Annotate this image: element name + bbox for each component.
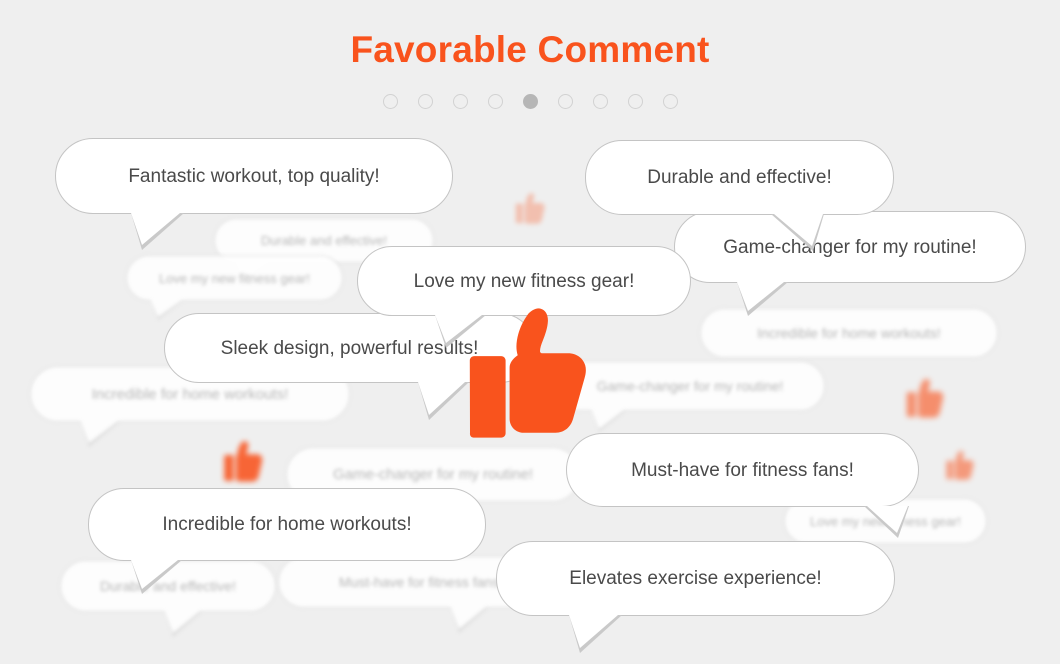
comment-bubble[interactable]: Fantastic workout, top quality!	[55, 138, 453, 214]
bubble-tail	[81, 421, 121, 447]
bubble-tail	[592, 410, 627, 432]
decorative-thumbs-up	[509, 190, 545, 224]
pagination-dot-6[interactable]	[558, 94, 573, 109]
pagination-dot-4[interactable]	[488, 94, 503, 109]
background-comment-bubble: Game-changer for my routine!	[555, 361, 825, 411]
thumbs-up-icon	[509, 190, 545, 224]
bubble-tail-fill	[418, 382, 465, 415]
bubble-tail	[131, 213, 184, 250]
bubble-tail	[569, 615, 622, 653]
comment-text: Love my new fitness gear!	[159, 272, 310, 285]
comment-text: Fantastic workout, top quality!	[128, 167, 379, 186]
pagination-dots[interactable]	[0, 94, 1060, 109]
comment-text: Elevates exercise experience!	[569, 569, 821, 588]
comment-bubble[interactable]: Elevates exercise experience!	[496, 541, 895, 616]
pagination-dot-3[interactable]	[453, 94, 468, 109]
thumbs-up-icon	[940, 448, 974, 480]
pagination-dot-1[interactable]	[383, 94, 398, 109]
pagination-dot-9[interactable]	[663, 94, 678, 109]
comment-text: Love my new fitness gear!	[810, 515, 961, 528]
comment-text: Incredible for home workouts!	[162, 515, 411, 534]
comment-bubble[interactable]: Durable and effective!	[585, 140, 894, 215]
comment-text: Love my new fitness gear!	[414, 272, 635, 291]
bubble-tail-fill	[569, 615, 618, 648]
comment-text: Durable and effective!	[647, 168, 832, 187]
thumbs-up-icon	[898, 375, 944, 418]
comment-text: Game-changer for my routine!	[333, 467, 533, 482]
comment-text: Durable and effective!	[261, 234, 387, 247]
comment-text: Must-have for fitness fans!	[339, 575, 503, 589]
decorative-thumbs-up	[215, 437, 263, 482]
page-title: Favorable Comment	[0, 28, 1060, 72]
pagination-dot-5[interactable]	[523, 94, 538, 109]
pagination-dot-2[interactable]	[418, 94, 433, 109]
comment-text: Incredible for home workouts!	[92, 387, 289, 402]
background-comment-bubble: Incredible for home workouts!	[700, 308, 998, 358]
bubble-tail-fill	[81, 421, 118, 443]
comment-text: Game-changer for my routine!	[597, 379, 784, 393]
background-comment-bubble: Love my new fitness gear!	[126, 255, 343, 301]
favorable-comment-scene: Durable and effective! Love my new fitne…	[0, 0, 1060, 664]
comment-bubble[interactable]: Must-have for fitness fans!	[566, 433, 919, 507]
comment-text: Sleek design, powerful results!	[221, 339, 479, 358]
pagination-dot-7[interactable]	[593, 94, 608, 109]
thumbs-up-icon	[215, 437, 263, 482]
bubble-tail	[165, 611, 203, 637]
comment-bubble[interactable]: Game-changer for my routine!	[674, 211, 1026, 283]
main-thumbs-up	[462, 304, 590, 444]
bubble-tail-fill	[151, 300, 182, 317]
bubble-tail-fill	[451, 607, 486, 629]
background-comment-bubble: Durable and effective!	[60, 560, 276, 612]
bubble-tail	[451, 607, 489, 633]
bubble-tail-fill	[165, 611, 200, 633]
bubble-tail-fill	[592, 410, 624, 429]
thumbs-up-icon	[462, 304, 590, 444]
pagination-dot-8[interactable]	[628, 94, 643, 109]
bubble-tail-fill	[131, 213, 180, 245]
bubble-tail	[151, 300, 184, 320]
comment-text: Must-have for fitness fans!	[631, 461, 854, 480]
bubble-tail-fill	[737, 282, 784, 311]
decorative-thumbs-up	[898, 375, 944, 418]
decorative-thumbs-up	[940, 448, 974, 480]
comment-text: Durable and effective!	[100, 579, 236, 593]
comment-bubble[interactable]: Incredible for home workouts!	[88, 488, 486, 561]
comment-text: Incredible for home workouts!	[757, 326, 941, 340]
comment-text: Game-changer for my routine!	[723, 238, 976, 257]
